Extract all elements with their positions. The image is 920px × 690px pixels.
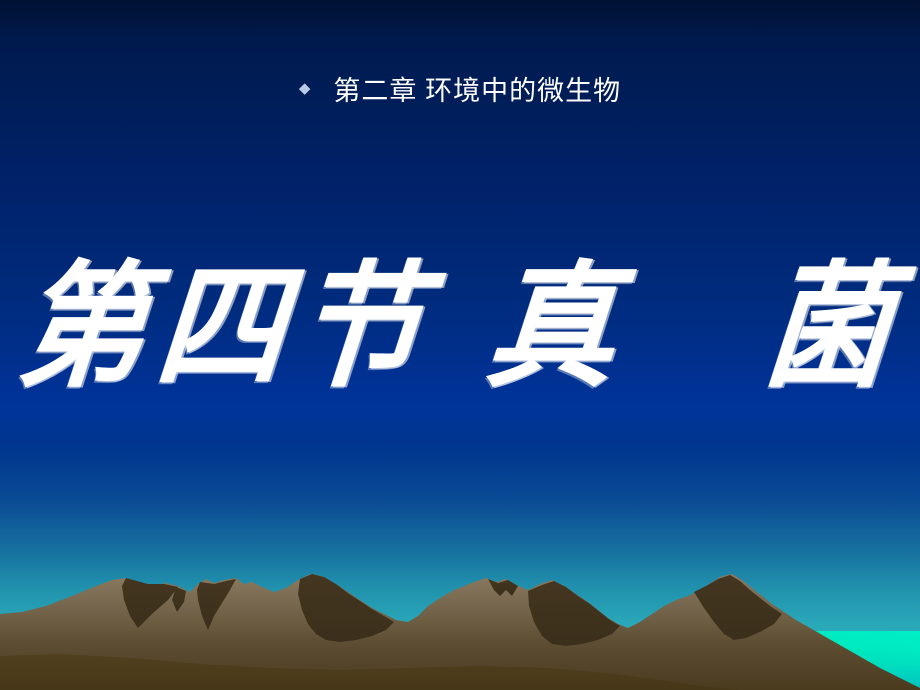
diamond-bullet-icon: ◆ (299, 69, 312, 109)
slide-title: 第四节 真 菌 (12, 248, 908, 407)
presentation-slide: ◆第二章 环境中的微生物 第四节 真 菌 (0, 0, 920, 690)
slide-subtitle-line: ◆第二章 环境中的微生物 (0, 68, 920, 111)
slide-subtitle-text: 第二章 环境中的微生物 (333, 71, 621, 111)
slide-title-block: 第四节 真 菌 (0, 252, 920, 402)
mountain-range-silhouette (0, 570, 920, 690)
